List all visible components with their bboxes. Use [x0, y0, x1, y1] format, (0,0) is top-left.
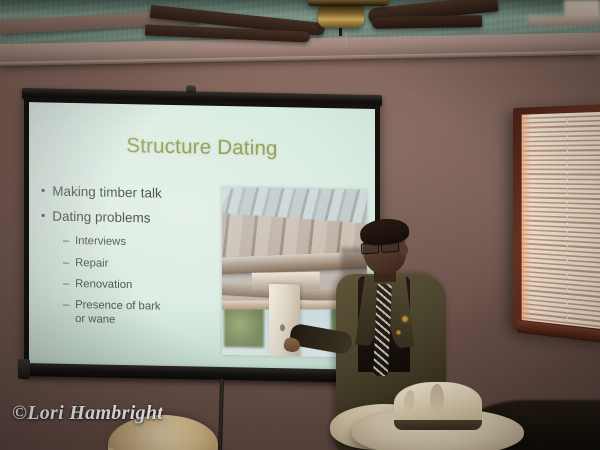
sub-bullet-text: Interviews	[75, 235, 126, 249]
bullet-text: Dating problems	[52, 210, 150, 226]
screen-end-cap	[18, 359, 30, 379]
photo-scene: Structure Dating • Making timber talk • …	[0, 0, 600, 450]
window-blinds	[522, 112, 600, 329]
screen-hanger-hook	[186, 85, 196, 93]
hat-band	[394, 420, 482, 430]
sub-bullet-item: – Renovation	[63, 278, 219, 294]
sub-bullet-marker: –	[63, 235, 69, 248]
bullet-item: • Making timber talk	[41, 184, 219, 202]
window	[513, 104, 600, 341]
fan-light-fixture	[318, 6, 364, 28]
blinds-cord	[566, 113, 568, 325]
sub-bullet-text: Presence of bark or wane	[75, 299, 160, 327]
sub-bullet-item: – Interviews	[63, 235, 219, 251]
sub-bullet-text: Repair	[75, 257, 108, 271]
bullet-marker: •	[41, 184, 45, 198]
slide-title: Structure Dating	[29, 132, 375, 163]
photographer-watermark: ©Lori Hambright	[12, 402, 163, 425]
ceiling-fan	[200, 0, 600, 72]
sub-bullet-text: Renovation	[75, 278, 132, 292]
fan-blade	[372, 15, 482, 29]
presenter-lapel-pin	[396, 330, 401, 335]
sub-bullet-item: – Presence of bark or wane	[63, 299, 219, 329]
sub-bullet-marker: –	[63, 278, 69, 291]
sub-bullet-item: – Repair	[63, 256, 219, 272]
presenter-eyeglasses	[361, 241, 404, 253]
sub-bullet-marker: –	[63, 256, 69, 269]
slide-bullet-list: • Making timber talk • Dating problems –…	[41, 184, 219, 337]
bullet-item: • Dating problems	[41, 210, 219, 228]
bullet-marker: •	[41, 210, 45, 224]
presenter-lapel-pin	[402, 316, 408, 322]
cowboy-hat	[352, 382, 524, 450]
fan-pull-chain	[346, 32, 347, 56]
hat-crease	[430, 384, 444, 414]
blinds-sunlight	[522, 114, 532, 321]
sub-bullet-marker: –	[63, 299, 69, 326]
bullet-text: Making timber talk	[52, 185, 162, 201]
